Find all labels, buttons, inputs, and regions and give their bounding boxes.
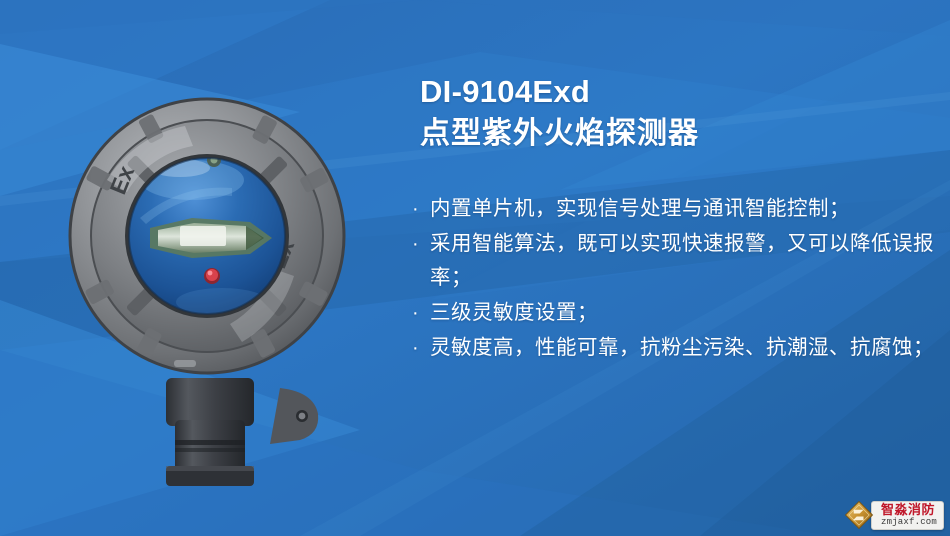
- feature-item-3: · 三级灵敏度设置；: [405, 296, 945, 330]
- feature-text: 内置单片机，实现信号处理与通讯智能控制；: [430, 197, 850, 220]
- feature-item-1: · 内置单片机，实现信号处理与通讯智能控制；: [405, 192, 945, 226]
- brand-url: zmjaxf.com: [881, 517, 937, 528]
- product-image-flame-detector: Ex Ex: [62, 88, 352, 488]
- brand-name-cn: 智淼消防: [881, 503, 937, 517]
- feature-item-2: · 采用智能算法，既可以实现快速报警，又可以降低误报率；: [405, 227, 945, 295]
- bullet-dot-icon: ·: [412, 296, 419, 330]
- feature-text: 采用智能算法，既可以实现快速报警，又可以降低误报率；: [430, 232, 934, 289]
- bullet-dot-icon: ·: [412, 192, 419, 226]
- product-name-title: 点型紫外火焰探测器: [420, 112, 945, 156]
- feature-text: 三级灵敏度设置；: [430, 301, 598, 324]
- bullet-dot-icon: ·: [412, 331, 419, 365]
- watermark: 智淼消防 zmjaxf.com: [844, 498, 944, 532]
- feature-text: 灵敏度高，性能可靠，抗粉尘污染、抗潮湿、抗腐蚀；: [430, 336, 934, 359]
- slide-canvas: Ex Ex: [0, 0, 950, 536]
- bullet-dot-icon: ·: [412, 227, 419, 261]
- feature-list: · 内置单片机，实现信号处理与通讯智能控制； · 采用智能算法，既可以实现快速报…: [405, 192, 945, 365]
- watermark-plate: 智淼消防 zmjaxf.com: [871, 501, 944, 530]
- text-column: DI-9104Exd 点型紫外火焰探测器 · 内置单片机，实现信号处理与通讯智能…: [405, 72, 945, 381]
- product-model-title: DI-9104Exd: [420, 72, 945, 112]
- brand-emblem-icon: [844, 500, 874, 530]
- feature-item-4: · 灵敏度高，性能可靠，抗粉尘污染、抗潮湿、抗腐蚀；: [405, 331, 945, 365]
